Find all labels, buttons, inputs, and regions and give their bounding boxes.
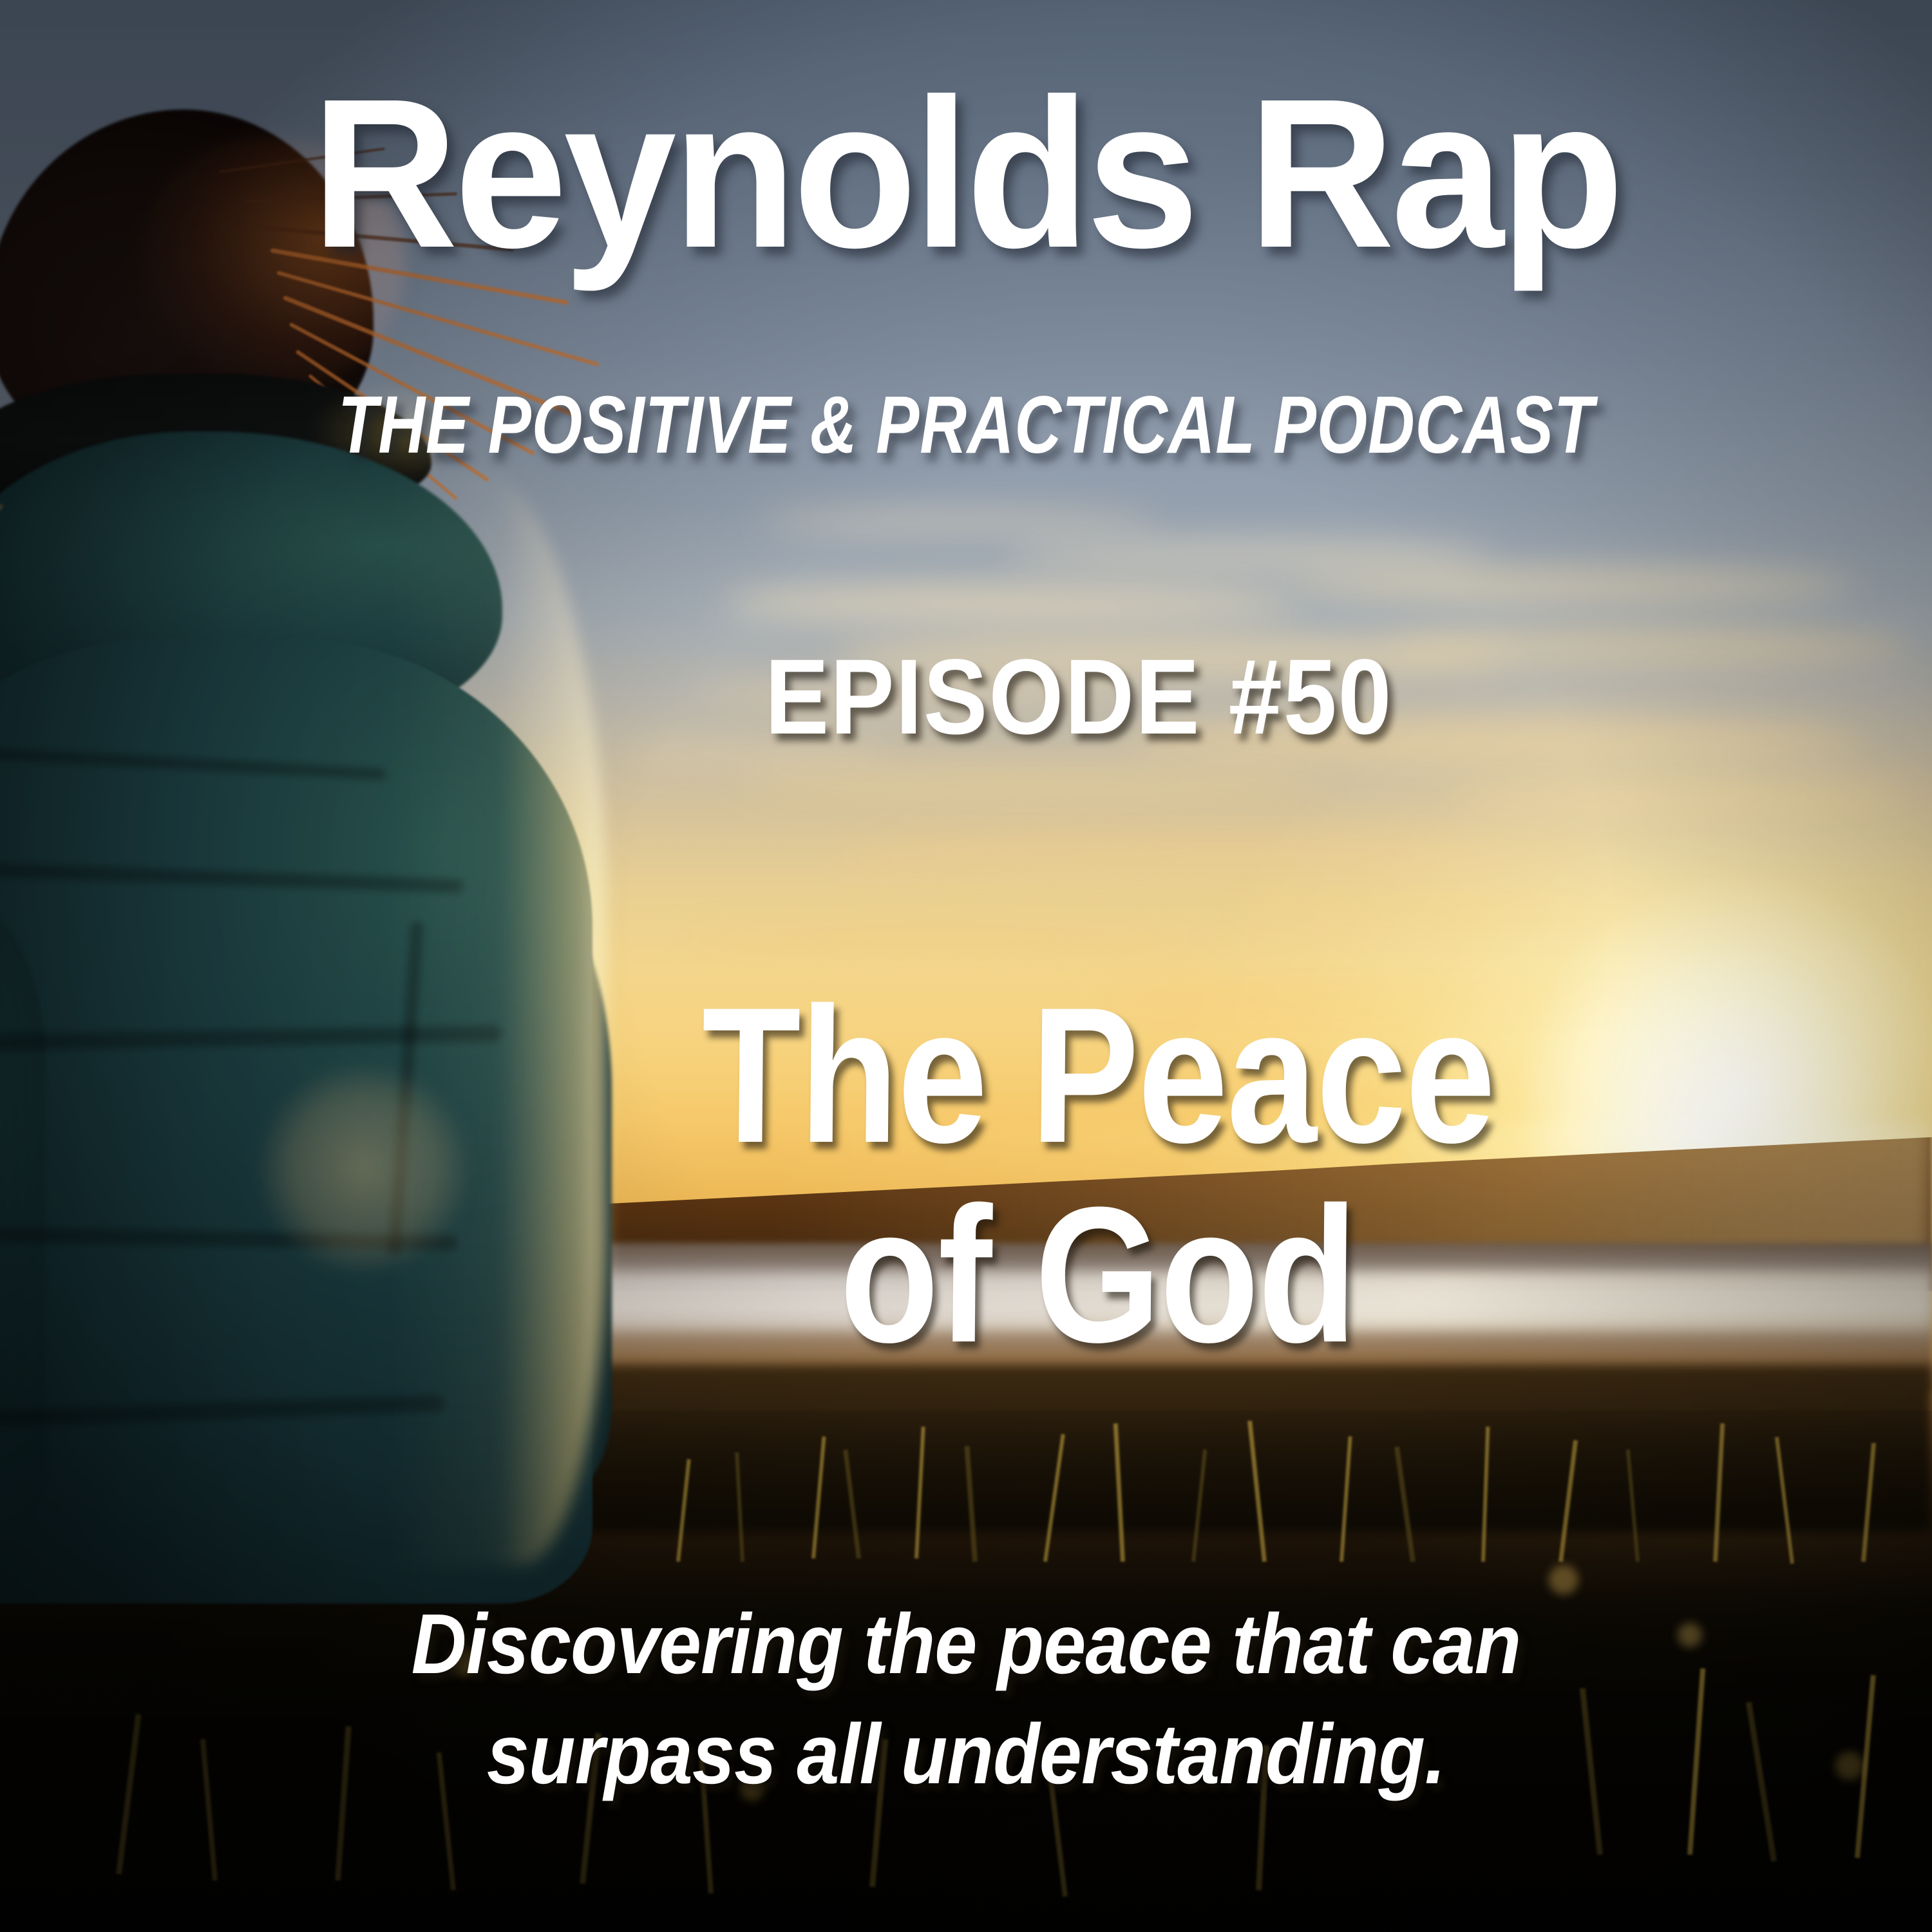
brand-tagline: THE POSITIVE & PRACTICAL PODCAST [193, 384, 1739, 466]
episode-number: EPISODE #50 [433, 644, 1725, 751]
episode-title-line-2: of God [478, 1184, 1718, 1365]
episode-subtitle-line-2: surpass all understanding. [97, 1712, 1835, 1797]
text-overlay: Reynolds Rap THE POSITIVE & PRACTICAL PO… [0, 0, 1932, 1932]
episode-title-line-1: The Peace [478, 984, 1718, 1166]
podcast-cover-artwork: Reynolds Rap THE POSITIVE & PRACTICAL PO… [0, 0, 1932, 1932]
brand-title: Reynolds Rap [44, 67, 1889, 279]
episode-subtitle-line-1: Discovering the peace that can [97, 1602, 1835, 1687]
